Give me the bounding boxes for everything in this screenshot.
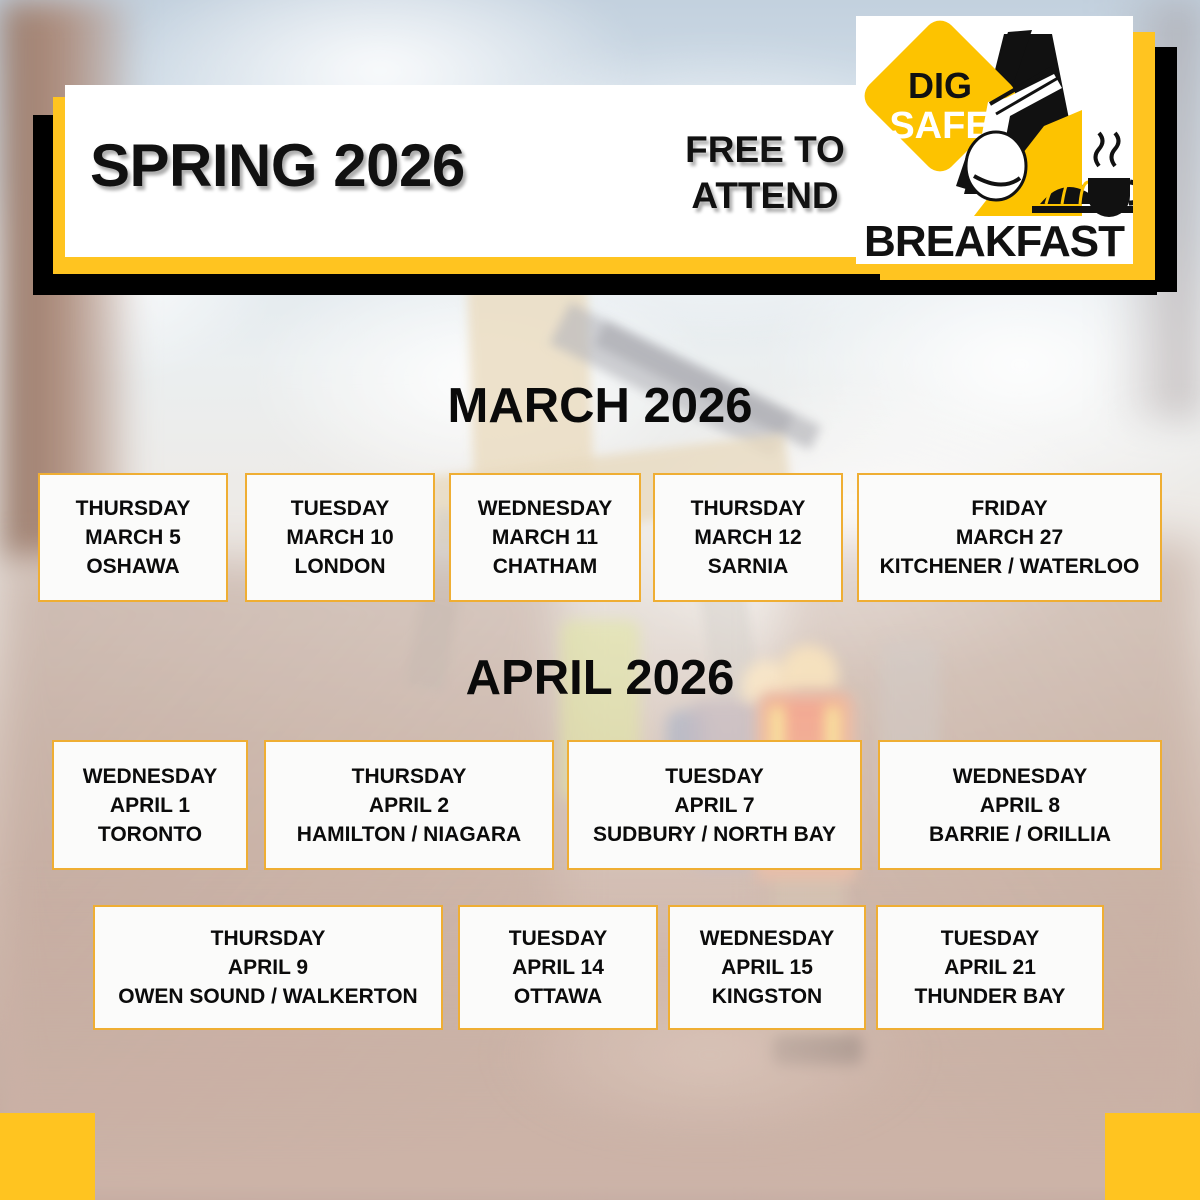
event-date: APRIL 21 bbox=[934, 953, 1046, 982]
event-date: MARCH 27 bbox=[946, 523, 1073, 552]
page-title: SPRING 2026 bbox=[90, 131, 465, 200]
event-location: KITCHENER / WATERLOO bbox=[870, 552, 1150, 581]
event-card[interactable]: FRIDAY MARCH 27 KITCHENER / WATERLOO bbox=[857, 473, 1162, 602]
event-weekday: FRIDAY bbox=[961, 494, 1057, 523]
logo-dig-text: DIG bbox=[908, 65, 972, 106]
event-date: APRIL 1 bbox=[100, 791, 200, 820]
event-card[interactable]: TUESDAY APRIL 21 THUNDER BAY bbox=[876, 905, 1104, 1030]
corner-accent-bottom-left bbox=[0, 1113, 95, 1200]
event-card[interactable]: TUESDAY MARCH 10 LONDON bbox=[245, 473, 435, 602]
event-location: CHATHAM bbox=[483, 552, 608, 581]
event-location: SARNIA bbox=[698, 552, 799, 581]
event-weekday: TUESDAY bbox=[655, 762, 773, 791]
event-weekday: THURSDAY bbox=[342, 762, 477, 791]
event-card[interactable]: WEDNESDAY MARCH 11 CHATHAM bbox=[449, 473, 641, 602]
event-card[interactable]: TUESDAY APRIL 7 SUDBURY / NORTH BAY bbox=[567, 740, 862, 870]
steam-icon bbox=[1096, 133, 1103, 166]
event-location: THUNDER BAY bbox=[905, 982, 1076, 1011]
dig-safe-breakfast-logo: DIG SAFE bbox=[856, 16, 1133, 264]
event-date: APRIL 7 bbox=[664, 791, 764, 820]
event-card[interactable]: WEDNESDAY APRIL 8 BARRIE / ORILLIA bbox=[878, 740, 1162, 870]
event-location: LONDON bbox=[285, 552, 396, 581]
event-location: OSHAWA bbox=[76, 552, 189, 581]
event-location: KINGSTON bbox=[702, 982, 832, 1011]
event-location: BARRIE / ORILLIA bbox=[919, 820, 1121, 849]
event-date: APRIL 2 bbox=[359, 791, 459, 820]
logo-wordmark: BREAKFAST bbox=[864, 217, 1125, 264]
section-heading-april: APRIL 2026 bbox=[0, 650, 1200, 706]
event-weekday: WEDNESDAY bbox=[690, 924, 845, 953]
event-weekday: TUESDAY bbox=[281, 494, 399, 523]
event-location: SUDBURY / NORTH BAY bbox=[583, 820, 846, 849]
event-date: MARCH 10 bbox=[276, 523, 403, 552]
event-date: MARCH 12 bbox=[684, 523, 811, 552]
coffee-cup-icon bbox=[1088, 133, 1133, 217]
event-date: MARCH 5 bbox=[75, 523, 191, 552]
event-date: MARCH 11 bbox=[482, 523, 608, 552]
event-card[interactable]: WEDNESDAY APRIL 15 KINGSTON bbox=[668, 905, 866, 1030]
logo-artwork: DIG SAFE bbox=[856, 16, 1133, 264]
event-weekday: WEDNESDAY bbox=[943, 762, 1098, 791]
event-card[interactable]: THURSDAY APRIL 9 OWEN SOUND / WALKERTON bbox=[93, 905, 443, 1030]
event-weekday: WEDNESDAY bbox=[468, 494, 623, 523]
event-weekday: WEDNESDAY bbox=[73, 762, 228, 791]
event-card[interactable]: WEDNESDAY APRIL 1 TORONTO bbox=[52, 740, 248, 870]
event-location: OTTAWA bbox=[504, 982, 612, 1011]
event-location: OWEN SOUND / WALKERTON bbox=[108, 982, 427, 1011]
event-weekday: TUESDAY bbox=[499, 924, 617, 953]
event-date: APRIL 9 bbox=[218, 953, 318, 982]
section-heading-march: MARCH 2026 bbox=[0, 378, 1200, 434]
event-weekday: THURSDAY bbox=[681, 494, 816, 523]
steam-icon bbox=[1112, 133, 1119, 166]
event-card[interactable]: TUESDAY APRIL 14 OTTAWA bbox=[458, 905, 658, 1030]
event-weekday: THURSDAY bbox=[66, 494, 201, 523]
event-date: APRIL 14 bbox=[502, 953, 614, 982]
corner-accent-bottom-right bbox=[1105, 1113, 1200, 1200]
event-card[interactable]: THURSDAY MARCH 12 SARNIA bbox=[653, 473, 843, 602]
event-card[interactable]: THURSDAY APRIL 2 HAMILTON / NIAGARA bbox=[264, 740, 554, 870]
event-date: APRIL 15 bbox=[711, 953, 823, 982]
event-weekday: TUESDAY bbox=[931, 924, 1049, 953]
event-location: HAMILTON / NIAGARA bbox=[287, 820, 531, 849]
event-date: APRIL 8 bbox=[970, 791, 1070, 820]
event-weekday: THURSDAY bbox=[201, 924, 336, 953]
poster-canvas: SPRING 2026 FREE TO ATTEND DIG SAFE bbox=[0, 0, 1200, 1200]
event-card[interactable]: THURSDAY MARCH 5 OSHAWA bbox=[38, 473, 228, 602]
event-location: TORONTO bbox=[88, 820, 212, 849]
